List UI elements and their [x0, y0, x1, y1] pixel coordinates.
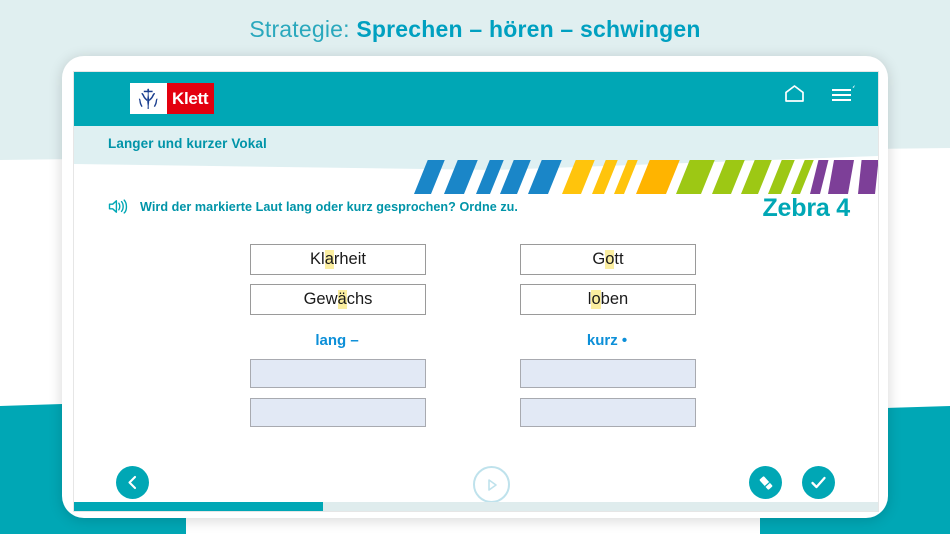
stripe-segment	[810, 160, 828, 194]
play-button[interactable]	[473, 466, 510, 503]
word-card[interactable]: loben	[520, 284, 696, 315]
word-card[interactable]: Gott	[520, 244, 696, 275]
stripe-segment	[768, 160, 795, 194]
menu-icon[interactable]	[831, 84, 856, 103]
stripe-segment	[676, 160, 715, 194]
stripe-segment	[858, 160, 879, 194]
stripe-segment	[500, 160, 531, 194]
speaker-icon[interactable]	[108, 198, 128, 215]
page-title-strong: Sprechen – hören – schwingen	[356, 16, 700, 42]
stripe-segment	[712, 160, 745, 194]
klett-logo[interactable]: Klett	[130, 83, 214, 114]
tablet-screen: Klett	[73, 71, 879, 512]
word-card[interactable]: Klarheit	[250, 244, 426, 275]
word-suffix: tt	[614, 250, 623, 269]
stripe-segment	[414, 160, 445, 194]
stripe-segment	[636, 160, 680, 194]
word-prefix: G	[592, 250, 605, 269]
word-card[interactable]: Gewächs	[250, 284, 426, 315]
progress-bar-fill	[74, 502, 323, 511]
stripe-segment	[828, 160, 854, 194]
klett-wordmark: Klett	[167, 83, 214, 114]
decorative-stripe-band	[414, 160, 879, 194]
instruction-text: Wird der markierte Laut lang oder kurz g…	[140, 200, 518, 214]
home-icon[interactable]	[784, 84, 805, 103]
marked-vowel: o	[591, 290, 600, 309]
marked-vowel: o	[605, 250, 614, 269]
word-card-list-right: Gottloben	[520, 244, 696, 315]
stripe-segment	[877, 160, 879, 194]
series-brand-label: Zebra 4	[762, 194, 850, 223]
marked-vowel: ä	[338, 290, 347, 309]
instruction-row: Wird der markierte Laut lang oder kurz g…	[108, 198, 518, 215]
word-card-list-left: KlarheitGewächs	[250, 244, 426, 315]
drop-zone[interactable]	[250, 398, 426, 427]
tablet-frame: Klett	[62, 56, 888, 518]
confirm-button[interactable]	[802, 466, 835, 499]
category-label-kurz: kurz •	[520, 332, 694, 349]
word-prefix: Gew	[304, 290, 338, 309]
drop-zone-list-lang	[250, 359, 426, 427]
word-suffix: ben	[601, 290, 629, 309]
stripe-segment	[476, 160, 504, 194]
word-suffix: rheit	[334, 250, 366, 269]
drop-zone-list-kurz	[520, 359, 696, 427]
drop-zone[interactable]	[520, 359, 696, 388]
drop-zone[interactable]	[250, 359, 426, 388]
klett-fountain-icon	[130, 83, 167, 114]
word-suffix: chs	[347, 290, 373, 309]
stripe-segment	[444, 160, 478, 194]
stripe-segment	[614, 160, 638, 194]
eraser-button[interactable]	[749, 466, 782, 499]
app-header: Klett	[74, 72, 878, 126]
header-icon-group	[784, 84, 856, 103]
previous-button[interactable]	[116, 466, 149, 499]
category-label-lang: lang –	[250, 332, 424, 349]
progress-bar-track[interactable]	[74, 502, 878, 511]
drop-zone[interactable]	[520, 398, 696, 427]
marked-vowel: a	[325, 250, 334, 269]
stripe-segment	[528, 160, 562, 194]
column-lang: KlarheitGewächs lang –	[250, 244, 426, 437]
page-title: Strategie: Sprechen – hören – schwingen	[0, 16, 950, 43]
stripe-segment	[592, 160, 618, 194]
word-prefix: Kl	[310, 250, 325, 269]
column-kurz: Gottloben kurz •	[520, 244, 696, 437]
stripe-segment	[562, 160, 595, 194]
sub-header-title: Langer und kurzer Vokal	[108, 136, 267, 151]
page-title-prefix: Strategie:	[249, 16, 349, 42]
stripe-segment	[741, 160, 772, 194]
